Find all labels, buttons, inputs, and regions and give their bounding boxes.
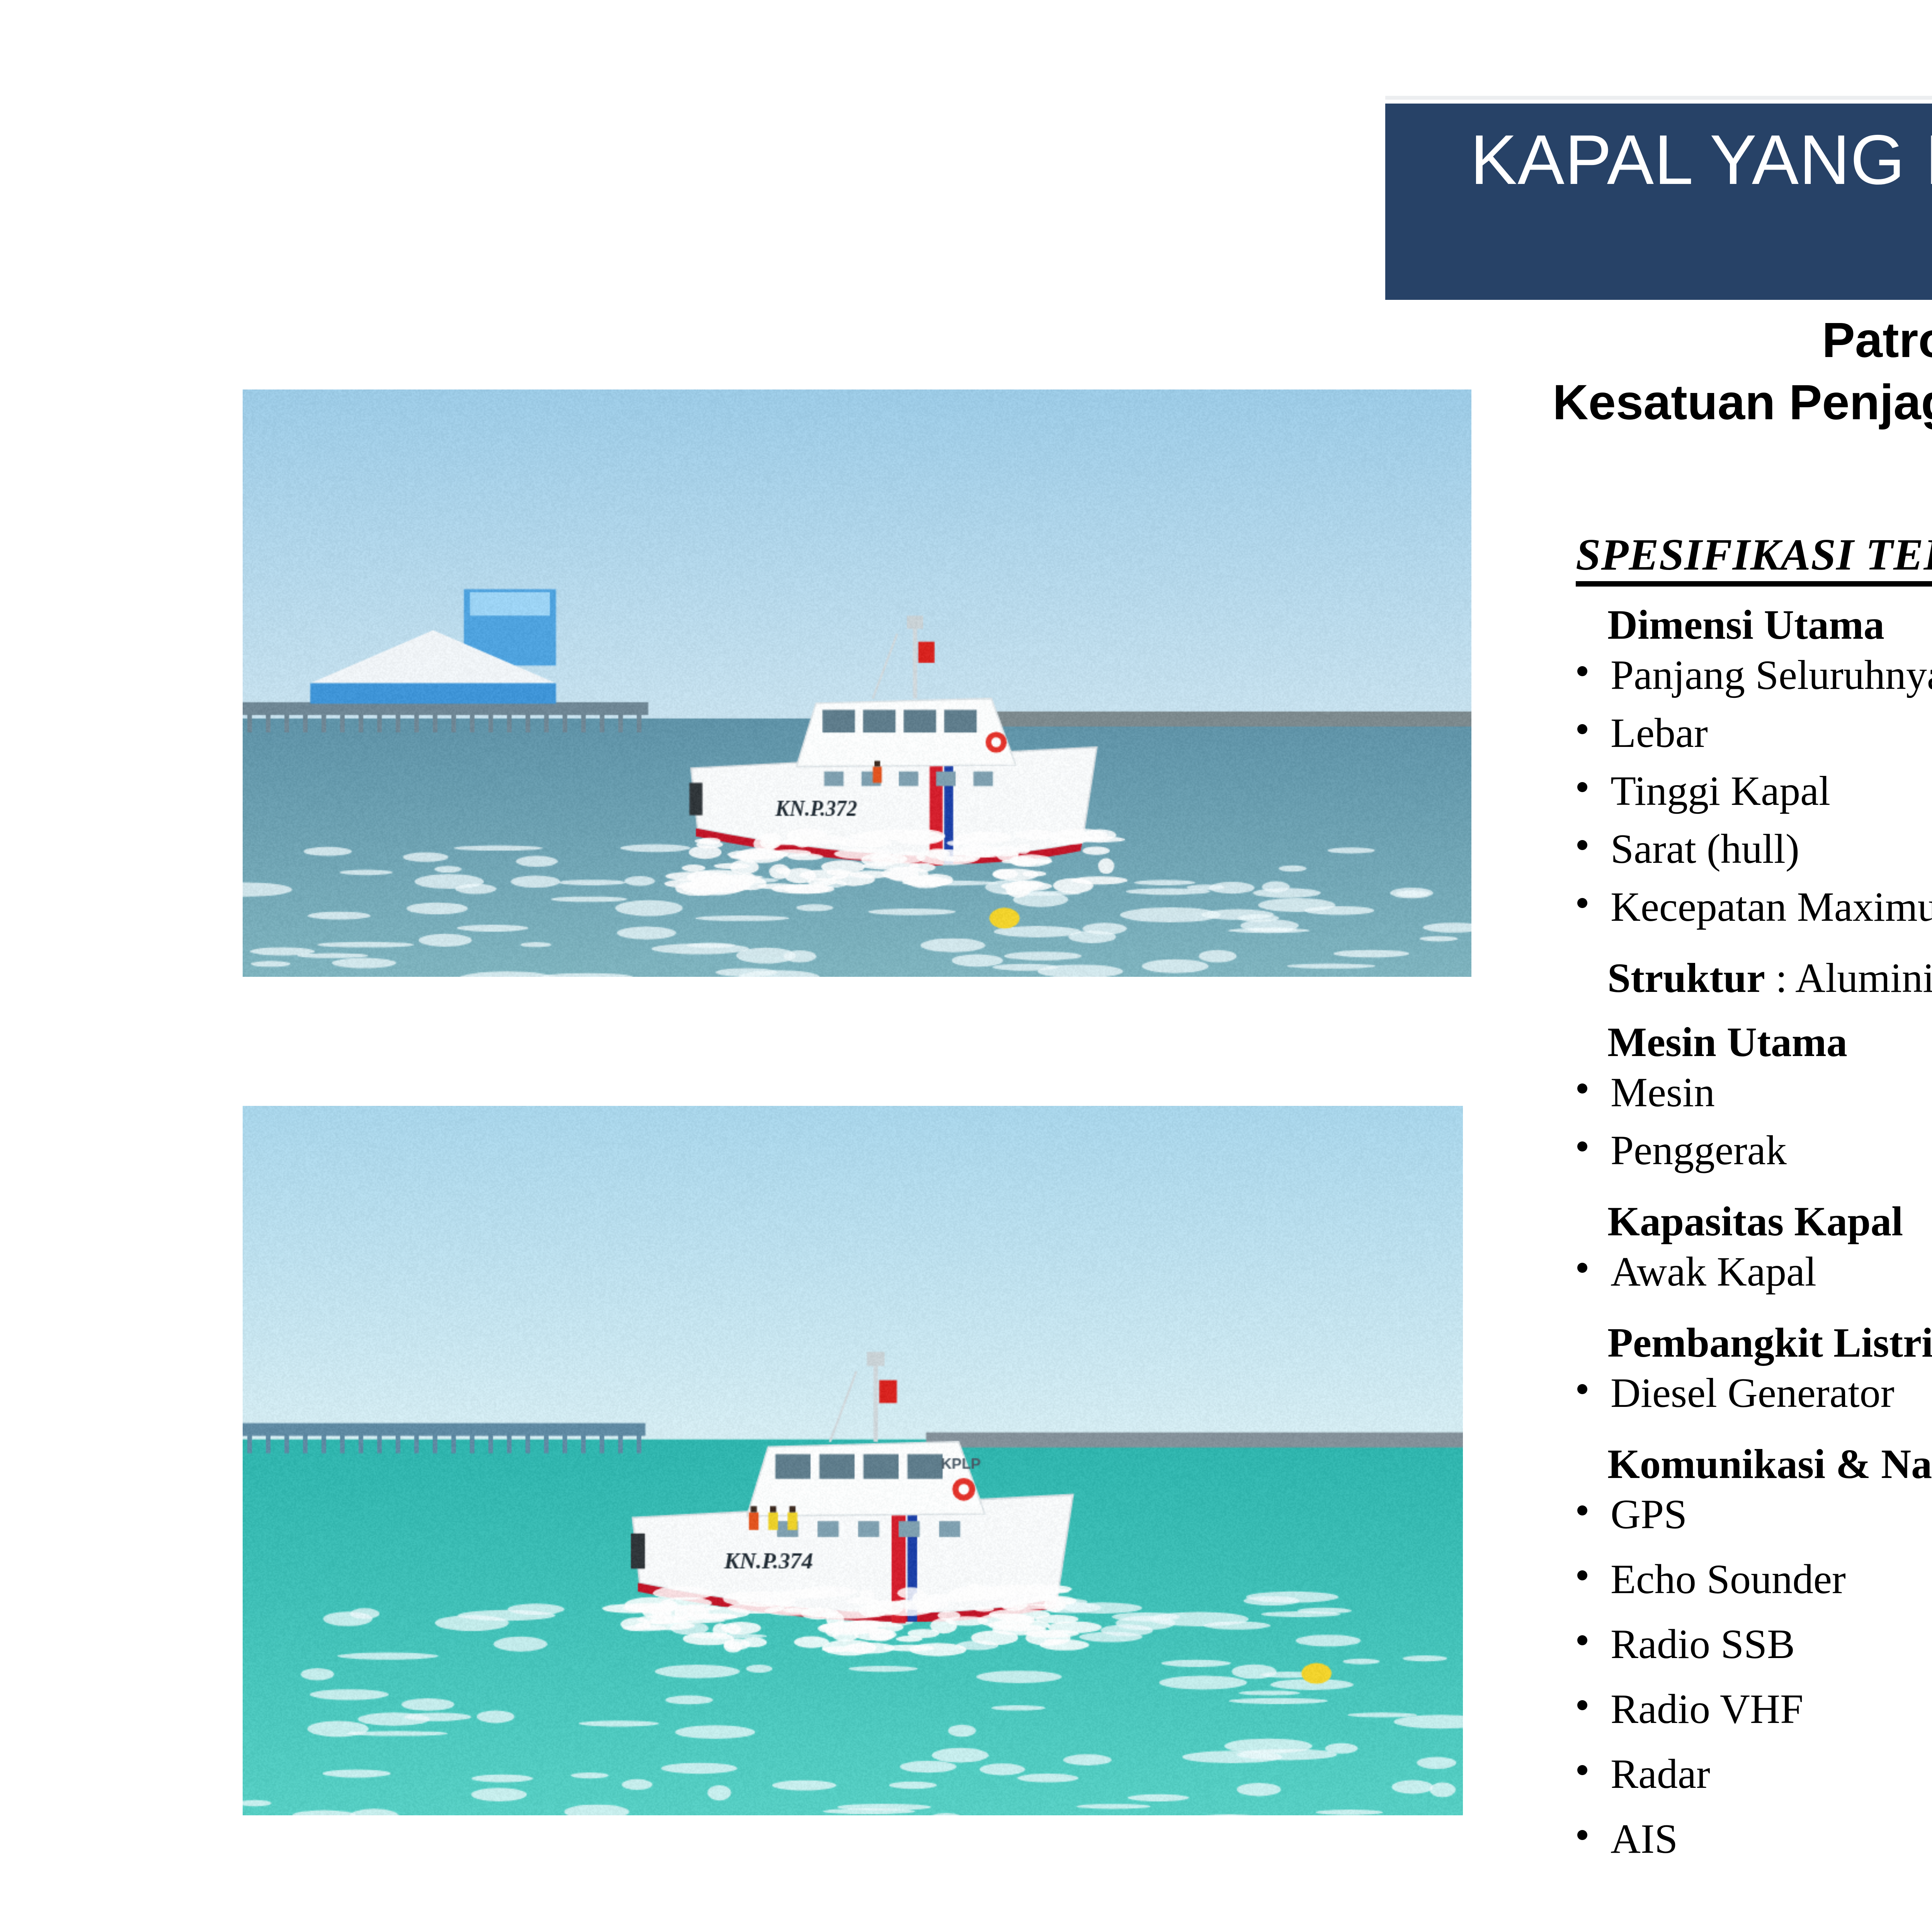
- bullet-icon: [1577, 1083, 1587, 1094]
- spec-item-label: Penggerak: [1611, 1125, 1787, 1176]
- bullet-icon: [1577, 898, 1587, 908]
- spec-row: Tinggi Kapal03.10 m: [1576, 766, 1932, 824]
- spec-section-heading: Komunikasi & Naviagasi: [1607, 1444, 1932, 1485]
- spec-row: Lebar05.80 m: [1576, 708, 1932, 766]
- spec-row: Radio VHF: [1576, 1684, 1932, 1749]
- spec-struktur-value: : Aluminium Hull And Superstructure: [1765, 955, 1932, 1001]
- bullet-icon: [1577, 1830, 1587, 1840]
- spec-section-heading: Mesin Utama: [1607, 1022, 1932, 1063]
- spec-item-label: Echo Sounder: [1611, 1554, 1846, 1605]
- bullet-icon: [1577, 840, 1587, 850]
- spec-section-heading: Dimensi Utama: [1607, 604, 1932, 646]
- bullet-icon: [1577, 1635, 1587, 1645]
- bullet-icon: [1577, 1384, 1587, 1394]
- spec-item-label: Radio VHF: [1611, 1684, 1803, 1735]
- photo-canvas-top: [243, 389, 1471, 977]
- subtitle-line-2: Kesatuan Penjagaan Laut dan Pantai Indon…: [1453, 371, 1932, 434]
- spec-item-label: Radar: [1611, 1749, 1710, 1800]
- bullet-icon: [1577, 1765, 1587, 1775]
- spec-item-label: Kecepatan Maximum: [1611, 882, 1932, 933]
- spec-item-label: Radio SSB: [1611, 1619, 1795, 1670]
- bullet-icon: [1577, 666, 1587, 676]
- spec-item-label: AIS: [1611, 1814, 1678, 1865]
- spec-item-label: Awak Kapal: [1611, 1247, 1816, 1298]
- spec-row: Diesel Generator2 x 65 KVA: [1576, 1368, 1932, 1426]
- spec-struktur-label: Struktur: [1607, 955, 1765, 1001]
- spec-row: AIS: [1576, 1814, 1932, 1879]
- spec-row: Penggerak2 x Propeller: [1576, 1125, 1932, 1183]
- bullet-icon: [1577, 1570, 1587, 1580]
- photo-canvas-bottom: [243, 1106, 1463, 1815]
- bullet-icon: [1577, 724, 1587, 734]
- bullet-icon: [1577, 1141, 1587, 1151]
- bullet-icon: [1577, 1505, 1587, 1515]
- spec-row: Awak Kapal17 Personel: [1576, 1247, 1932, 1304]
- spec-item-label: GPS: [1611, 1489, 1687, 1540]
- spec-struktur-row: Struktur : Aluminium Hull And Superstruc…: [1607, 953, 1932, 1004]
- spec-row: Mesin2 x 1300 HP: [1576, 1067, 1932, 1125]
- spec-item-label: Tinggi Kapal: [1611, 766, 1830, 817]
- technical-specifications: SPESIFIKASI TEKNIS Dimensi UtamaPanjang …: [1576, 532, 1932, 1879]
- spec-item-label: Sarat (hull): [1611, 824, 1799, 875]
- spec-row: Panjang Seluruhnya28.50 m: [1576, 650, 1932, 708]
- spec-row: Sarat (hull)01.615m: [1576, 824, 1932, 882]
- patrol-boat-knp372-photo: [243, 389, 1471, 977]
- subtitle-block: Patrol Boat 28 M (2 Unit) Kesatuan Penja…: [1453, 309, 1932, 496]
- spec-row: GPS: [1576, 1489, 1932, 1554]
- spec-section-heading: Kapasitas Kapal: [1607, 1201, 1932, 1243]
- patrol-boat-knp374-photo: [243, 1106, 1463, 1815]
- spec-row: Kecepatan Maximum24 knots: [1576, 882, 1932, 940]
- bullet-icon: [1577, 1700, 1587, 1710]
- header-banner: KAPAL YANG PERNAH DIBANGUN: [1385, 104, 1932, 300]
- spec-item-label: Diesel Generator: [1611, 1368, 1895, 1419]
- bullet-icon: [1577, 782, 1587, 792]
- banner-top-rule: [1385, 96, 1932, 100]
- spec-heading: SPESIFIKASI TEKNIS: [1576, 532, 1932, 587]
- spec-item-label: Lebar: [1611, 708, 1708, 759]
- bullet-icon: [1577, 1263, 1587, 1273]
- spec-row: Radio SSB: [1576, 1619, 1932, 1684]
- page-title: KAPAL YANG PERNAH DIBANGUN: [1470, 123, 1932, 197]
- spec-item-label: Panjang Seluruhnya: [1611, 650, 1932, 701]
- spec-row: Radar: [1576, 1749, 1932, 1814]
- spec-item-label: Mesin: [1611, 1067, 1715, 1118]
- spec-body: Dimensi UtamaPanjang Seluruhnya28.50 mLe…: [1576, 604, 1932, 1879]
- subtitle-line-3: (KPLP): [1453, 434, 1932, 496]
- spec-section-heading: Pembangkit Listrik: [1607, 1322, 1932, 1364]
- subtitle-line-1: Patrol Boat 28 M (2 Unit): [1453, 309, 1932, 371]
- spec-row: Echo Sounder: [1576, 1554, 1932, 1619]
